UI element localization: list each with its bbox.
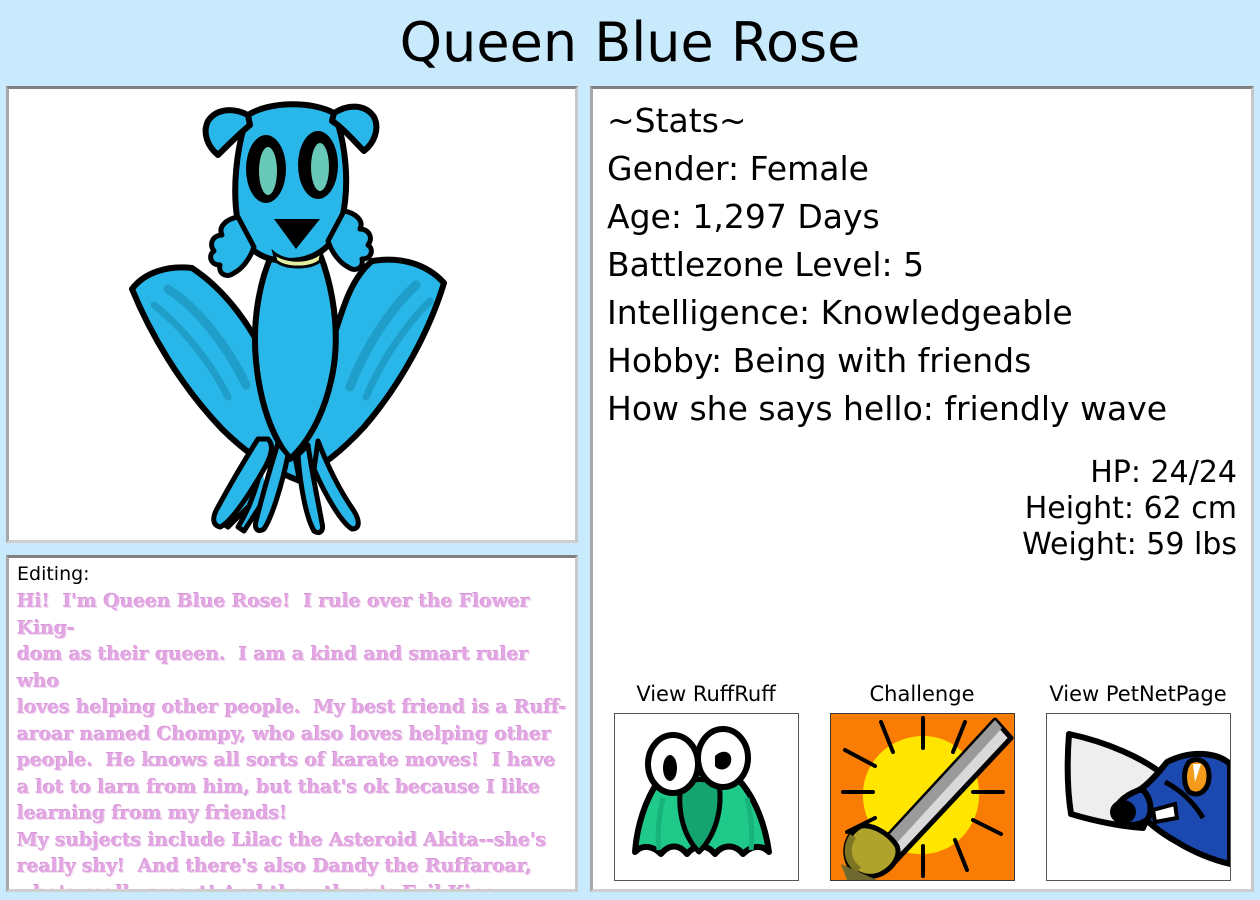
stat-weight: Weight: 59 lbs [607, 527, 1237, 563]
action-label: View PetNetPage [1049, 680, 1226, 708]
stat-gender: Gender: Female [607, 145, 1237, 193]
green-creature-icon [615, 714, 798, 880]
stats-heading: ~Stats~ [607, 97, 1237, 145]
stat-hp: HP: 24/24 [607, 455, 1237, 491]
stat-intelligence: Intelligence: Knowledgeable [607, 289, 1237, 337]
stat-greeting: How she says hello: friendly wave [607, 385, 1237, 433]
pet-image-panel [6, 86, 578, 543]
stat-height: Height: 62 cm [607, 491, 1237, 527]
bio-paragraph: My subjects include Lilac the Asteroid A… [17, 827, 567, 893]
blue-dog-page-icon [1047, 714, 1230, 880]
pet-portrait-icon [72, 93, 512, 538]
action-challenge[interactable]: Challenge [823, 680, 1021, 881]
action-label: Challenge [870, 680, 975, 708]
view-petnetpage-thumbnail[interactable] [1046, 713, 1231, 881]
left-column: Editing: Hi! I'm Queen Blue Rose! I rule… [6, 86, 578, 892]
action-view-ruffruff[interactable]: View RuffRuff [607, 680, 805, 881]
content-layout: Editing: Hi! I'm Queen Blue Rose! I rule… [0, 86, 1260, 896]
challenge-thumbnail[interactable] [830, 713, 1015, 881]
bio-editing-panel[interactable]: Editing: Hi! I'm Queen Blue Rose! I rule… [6, 555, 578, 892]
stats-list: ~Stats~ Gender: Female Age: 1,297 Days B… [607, 97, 1237, 433]
bio-paragraph: Hi! I'm Queen Blue Rose! I rule over the… [17, 588, 567, 827]
vitals-block: HP: 24/24 Height: 62 cm Weight: 59 lbs [607, 455, 1237, 563]
stats-panel: ~Stats~ Gender: Female Age: 1,297 Days B… [590, 86, 1254, 892]
action-view-petnetpage[interactable]: View PetNetPage [1039, 680, 1237, 881]
sword-sunburst-icon [831, 714, 1014, 880]
stat-battlezone-level: Battlezone Level: 5 [607, 241, 1237, 289]
action-thumbnails: View RuffRuff [607, 680, 1237, 881]
action-label: View RuffRuff [636, 680, 775, 708]
stat-age: Age: 1,297 Days [607, 193, 1237, 241]
editing-label: Editing: [17, 562, 567, 587]
view-ruffruff-thumbnail[interactable] [614, 713, 799, 881]
page-title: Queen Blue Rose [0, 0, 1260, 80]
stat-hobby: Hobby: Being with friends [607, 337, 1237, 385]
